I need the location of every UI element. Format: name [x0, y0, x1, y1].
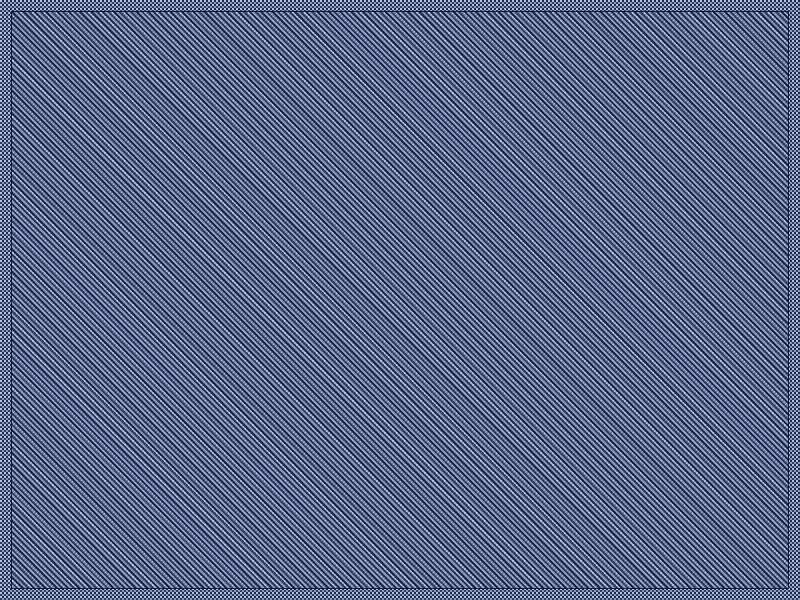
ghost-watermark-text: ner	[716, 62, 741, 82]
greeting-card-image: ner CUMAMIZ MÜBAREK OLSUN KARDEŞLERİM ww…	[0, 0, 800, 600]
dot-star	[560, 96, 562, 98]
prayer-text-block: Allahım, ismet perdesini yırtan, mutsuzl…	[290, 396, 590, 555]
dot-star	[20, 352, 22, 354]
dot-star	[352, 300, 354, 302]
prayer-line: belanın inmesine sebep olan	[290, 502, 590, 529]
prayer-line: nimetleri değiştiren,	[290, 449, 590, 476]
kaaba-light-burst	[118, 494, 208, 580]
headline-line-2: KARDEŞLERİM	[262, 183, 539, 218]
arabic-calligraphy-medallion-icon	[584, 420, 696, 540]
prayer-line: mutsuzluklara sebep olan,	[290, 423, 590, 450]
calligraphy-svg	[584, 420, 696, 540]
prayer-line: Allahım, ismet perdesini yırtan,	[290, 396, 590, 423]
prayer-line: günahlarımı affet!	[290, 529, 590, 556]
flare-ghost-orb	[410, 246, 436, 264]
headline-block: CUMAMIZ MÜBAREK OLSUN KARDEŞLERİM	[0, 128, 800, 218]
headline-line-1: CUMAMIZ MÜBAREK OLSUN	[138, 128, 662, 163]
light-burst-core	[143, 518, 183, 556]
dot-star	[402, 60, 404, 62]
kaaba-icon	[48, 378, 244, 574]
prayer-card-panel: Allahım, ismet perdesini yırtan, mutsuzl…	[268, 382, 722, 568]
prayer-line: duanın icabetini önleyen,	[290, 476, 590, 503]
site-watermark: www.islamiforumlar.net	[0, 357, 800, 373]
dot-star	[160, 300, 162, 302]
